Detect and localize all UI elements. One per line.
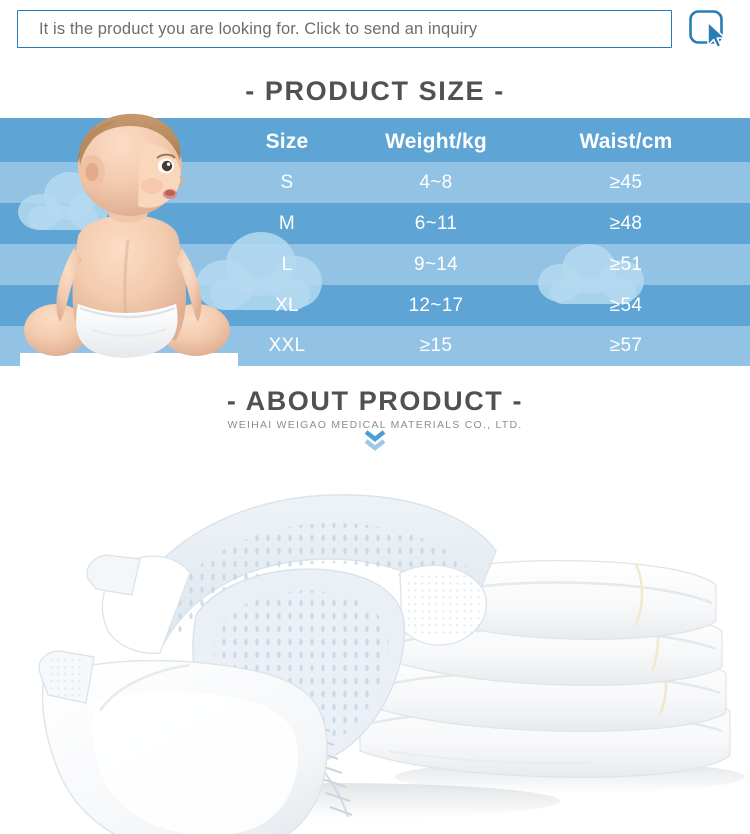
table-row: XXL xyxy=(227,335,347,357)
table-row: ≥15 xyxy=(366,335,506,357)
about-product-title: - ABOUT PRODUCT - xyxy=(0,386,750,417)
table-row: M xyxy=(227,213,347,235)
table-row: XL xyxy=(227,295,347,317)
send-inquiry-button[interactable] xyxy=(688,9,732,50)
table-row: 9~14 xyxy=(366,254,506,276)
inquiry-placeholder-text: It is the product you are looking for. C… xyxy=(18,20,477,39)
table-header-waist: Waist/cm xyxy=(556,130,696,154)
baby-photo xyxy=(20,108,238,366)
table-row: S xyxy=(227,172,347,194)
table-row: ≥45 xyxy=(556,172,696,194)
table-row: 4~8 xyxy=(366,172,506,194)
floor-strip xyxy=(0,366,750,386)
table-row: ≥51 xyxy=(556,254,696,276)
product-size-title: - PRODUCT SIZE - xyxy=(0,76,750,107)
table-header-weight: Weight/kg xyxy=(366,130,506,154)
product-photo xyxy=(0,455,750,834)
table-row: 12~17 xyxy=(366,295,506,317)
inquiry-bar: It is the product you are looking for. C… xyxy=(0,0,750,62)
inquiry-input[interactable]: It is the product you are looking for. C… xyxy=(17,10,672,48)
table-header-size: Size xyxy=(227,130,347,154)
table-row: L xyxy=(227,254,347,276)
double-chevron-down-icon xyxy=(363,430,387,452)
table-row: ≥54 xyxy=(556,295,696,317)
table-row: ≥48 xyxy=(556,213,696,235)
table-row: 6~11 xyxy=(366,213,506,235)
cursor-click-icon xyxy=(688,9,732,50)
table-row: ≥57 xyxy=(556,335,696,357)
